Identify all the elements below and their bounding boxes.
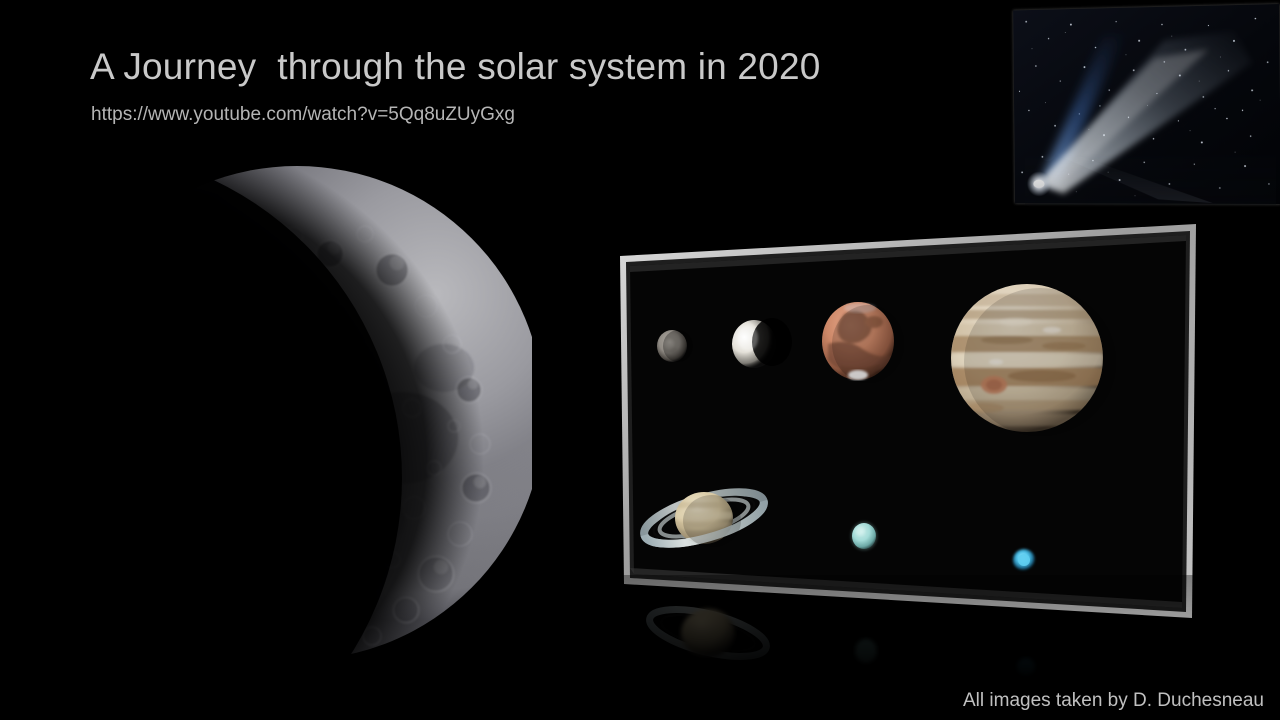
planet-mercury: [657, 330, 693, 362]
comet-photo-reflection: [1025, 147, 1276, 205]
video-url[interactable]: https://www.youtube.com/watch?v=5Qq8uZUy…: [91, 104, 515, 126]
page-title: A Journey through the solar system in 20…: [90, 47, 821, 88]
credit-text: All images taken by D. Duchesneau: [963, 690, 1264, 712]
moon-image: [62, 158, 532, 668]
planet-uranus: [851, 522, 878, 551]
moon-crescent-graphic: [62, 158, 532, 668]
planets-montage-panel: [612, 218, 1202, 630]
panel-inner: [630, 235, 1186, 608]
planet-neptune: [1013, 549, 1035, 571]
presentation-slide: A Journey through the solar system in 20…: [0, 0, 1280, 720]
planet-venus: [732, 318, 792, 368]
